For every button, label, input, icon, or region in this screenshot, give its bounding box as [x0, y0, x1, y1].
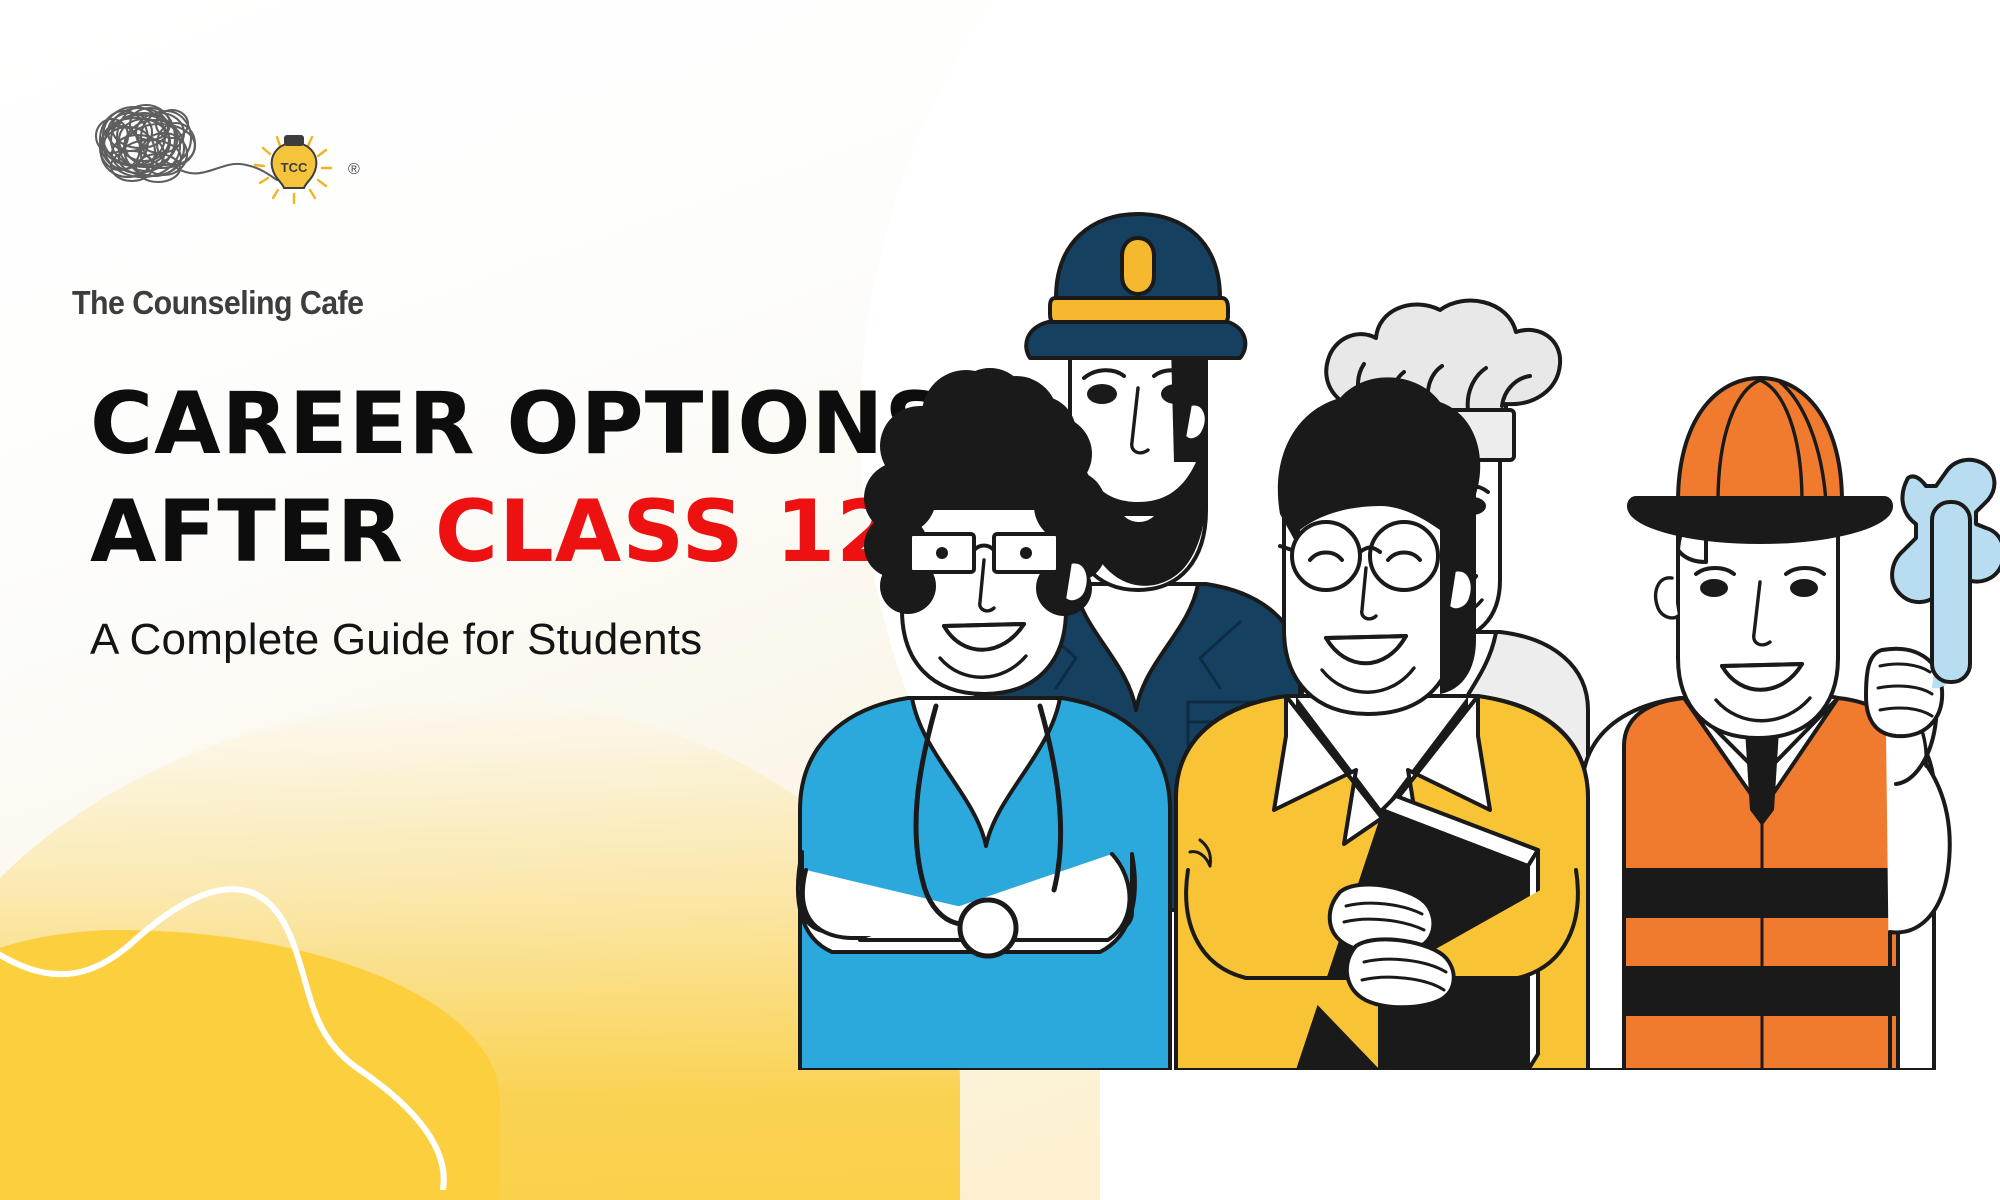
lightbulb-icon: TCC: [255, 135, 331, 203]
brand-logo[interactable]: TCC ® The Counseling Cafe: [72, 88, 402, 218]
character-construction-worker: [1582, 378, 2000, 1070]
brand-wordmark: The Counseling Cafe: [72, 284, 363, 322]
registered-trademark-mark: ®: [348, 161, 360, 178]
logo-mark: TCC ®: [72, 88, 402, 218]
logo-bulb-text: TCC: [281, 160, 308, 175]
tangled-thought-scribble-icon: [96, 105, 277, 182]
career-characters-illustration: [740, 110, 2000, 1070]
headline-line-2-prefix: AFTER: [90, 482, 435, 582]
banner-canvas: TCC ® The Counseling Cafe CAREER OPTIONS…: [0, 0, 2000, 1200]
character-businesswoman: [1176, 377, 1588, 1070]
